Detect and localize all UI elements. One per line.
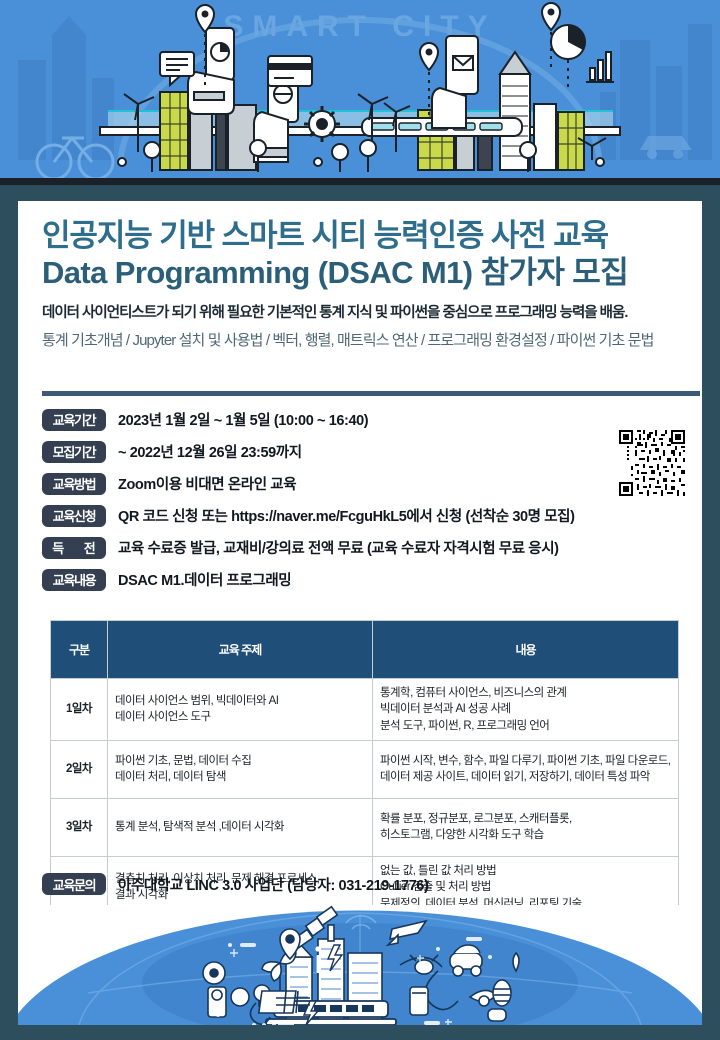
value-application-period: ~ 2022년 12월 26일 23:59까지 <box>118 441 302 462</box>
table-header-day: 구분 <box>51 621 108 679</box>
ring-icon <box>231 988 249 1006</box>
info-row-content: 교육내용 DSAC M1.데이터 프로그래밍 <box>42 565 692 594</box>
info-row-method: 교육방법 Zoom이용 비대면 온라인 교육 <box>42 469 692 498</box>
poster-content: 인공지능 기반 스마트 시티 능력인증 사전 교육 Data Programmi… <box>18 201 702 1009</box>
title-block: 인공지능 기반 스마트 시티 능력인증 사전 교육 Data Programmi… <box>42 219 702 350</box>
lightbulb-icon <box>493 980 511 1006</box>
badge-content: 교육내용 <box>42 569 106 591</box>
value-education-period: 2023년 1월 2일 ~ 1월 5일 (10:00 ~ 16:40) <box>118 409 368 430</box>
table-header-topic: 교육 주제 <box>108 621 373 679</box>
value-apply[interactable]: QR 코드 신청 또는 https://naver.me/FcguHkL5에서 … <box>118 505 575 526</box>
coffee-cup-icon <box>410 987 428 1015</box>
drone-icon <box>415 960 433 974</box>
info-row-education-period: 교육기간 2023년 1월 2일 ~ 1월 5일 (10:00 ~ 16:40) <box>42 405 692 434</box>
cell-day: 1일차 <box>51 679 108 741</box>
value-contact: 아주대학교 LINC 3.0 사업단 (담당자: 031-219-1776) <box>118 874 428 895</box>
value-benefits: 교육 수료증 발급, 교재비/강의료 전액 무료 (교육 수료자 자격시험 무료… <box>118 537 559 558</box>
cell-topic: 파이썬 기초, 문법, 데이터 수집데이터 처리, 데이터 탐색 <box>108 740 373 798</box>
poster-frame: 인공지능 기반 스마트 시티 능력인증 사전 교육 Data Programmi… <box>0 185 720 1040</box>
table-row: 3일차 통계 분석, 탐색적 분석 ,데이터 시각화 확률 분포, 정규분포, … <box>51 798 679 856</box>
table-header-row: 구분 교육 주제 내용 <box>51 621 679 679</box>
table-row: 2일차 파이썬 기초, 문법, 데이터 수집데이터 처리, 데이터 탐색 파이썬… <box>51 740 679 798</box>
smart-city-dome-svg <box>18 905 702 1025</box>
smart-city-banner-svg: SMART CITY <box>0 0 720 180</box>
cell-topic: 통계 분석, 탐색적 분석 ,데이터 시각화 <box>108 798 373 856</box>
plug-icon <box>488 1009 506 1021</box>
table-header-desc: 내용 <box>373 621 679 679</box>
page-title-line2: Data Programming (DSAC M1) 참가자 모집 <box>42 255 702 292</box>
poster-root: SMART CITY <box>0 0 720 1040</box>
page-title-line1: 인공지능 기반 스마트 시티 능력인증 사전 교육 <box>42 219 702 254</box>
title-divider <box>42 391 700 396</box>
qr-code[interactable] <box>615 426 689 500</box>
cell-day: 3일차 <box>51 798 108 856</box>
badge-application-period: 모집기간 <box>42 441 106 463</box>
cell-desc: 확률 분포, 정규분포, 로그분포, 스캐터플롯,히스토그램, 다양한 시각화 … <box>373 798 679 856</box>
info-row-benefits: 득 전 교육 수료증 발급, 교재비/강의료 전액 무료 (교육 수료자 자격시… <box>42 533 692 562</box>
info-rows: 교육기간 2023년 1월 2일 ~ 1월 5일 (10:00 ~ 16:40)… <box>42 405 692 597</box>
subtitle-primary: 데이터 사이언티스트가 되기 위해 필요한 기본적인 통계 지식 및 파이썬을 … <box>42 301 702 322</box>
footer-illustration <box>18 905 702 1025</box>
cell-desc: 통계학, 컴퓨터 사이언스, 비즈니스의 관계빅데이터 분석과 AI 성공 사례… <box>373 679 679 741</box>
badge-apply: 교육신청 <box>42 505 106 527</box>
info-row-application-period: 모집기간 ~ 2022년 12월 26일 23:59까지 <box>42 437 692 466</box>
badge-education-period: 교육기간 <box>42 409 106 431</box>
credit-card-icon <box>268 56 312 86</box>
value-content: DSAC M1.데이터 프로그래밍 <box>118 569 291 590</box>
contact-row: 교육문의 아주대학교 LINC 3.0 사업단 (담당자: 031-219-17… <box>42 873 428 895</box>
cell-topic: 데이터 사이언스 범위, 빅데이터와 AI데이터 사이언스 도구 <box>108 679 373 741</box>
cell-day: 2일차 <box>51 740 108 798</box>
header-divider <box>0 178 720 185</box>
header-illustration: SMART CITY <box>0 0 720 180</box>
table-row: 1일차 데이터 사이언스 범위, 빅데이터와 AI데이터 사이언스 도구 통계학… <box>51 679 679 741</box>
qr-code-svg <box>615 426 689 500</box>
badge-benefits: 득 전 <box>42 537 106 559</box>
badge-method: 교육방법 <box>42 473 106 495</box>
info-row-apply[interactable]: 교육신청 QR 코드 신청 또는 https://naver.me/FcguHk… <box>42 501 692 530</box>
value-method: Zoom이용 비대면 온라인 교육 <box>118 473 296 494</box>
subtitle-secondary: 통계 기초개념 / Jupyter 설치 및 사용법 / 벡터, 행렬, 매트릭… <box>42 329 702 350</box>
badge-contact: 교육문의 <box>42 873 106 895</box>
cell-desc: 파이썬 시작, 변수, 함수, 파일 다루기, 파이썬 기초, 파일 다운로드,… <box>373 740 679 798</box>
